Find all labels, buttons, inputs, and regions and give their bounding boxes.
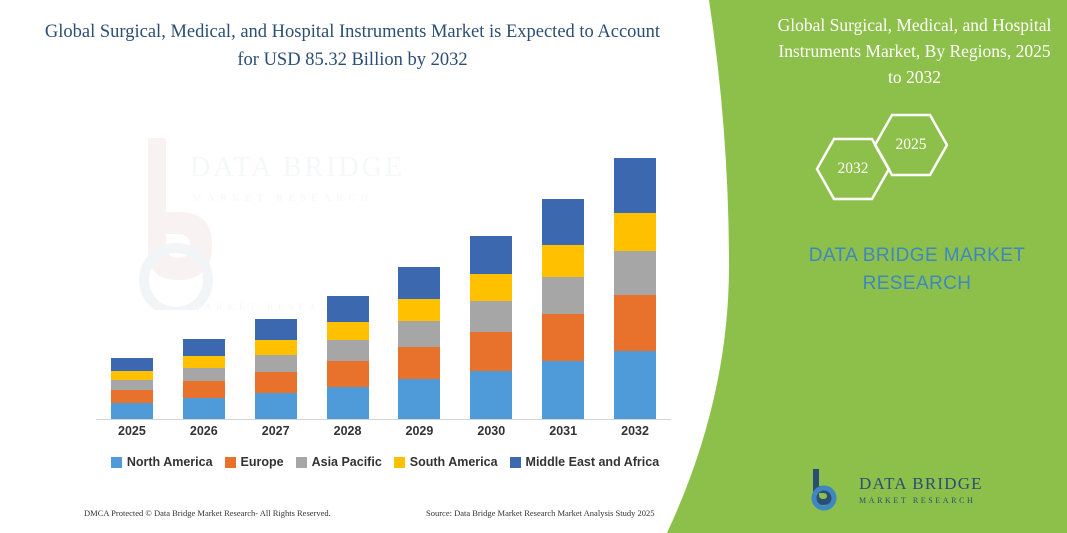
bar-group xyxy=(398,267,440,419)
data-bridge-logo-icon xyxy=(807,467,847,511)
bar-segment xyxy=(255,355,297,372)
bar-group xyxy=(470,236,512,419)
bar-segment xyxy=(255,340,297,355)
legend-label: South America xyxy=(410,455,498,469)
logo-sub-text: MARKET RESEARCH xyxy=(859,496,983,505)
bar-segment xyxy=(614,251,656,295)
bar-segment xyxy=(542,361,584,419)
footer: DMCA Protected © Data Bridge Market Rese… xyxy=(84,508,684,524)
chart-legend: North AmericaEuropeAsia PacificSouth Ame… xyxy=(96,455,674,469)
plot-area xyxy=(96,100,671,420)
bar-segment xyxy=(111,358,153,371)
logo-main-text: DATA BRIDGE xyxy=(859,474,983,494)
bar-segment xyxy=(327,387,369,419)
brand-line-1: DATA BRIDGE MARKET xyxy=(809,245,1026,266)
legend-label: Asia Pacific xyxy=(312,455,382,469)
bar-segment xyxy=(255,319,297,340)
footer-copyright: DMCA Protected © Data Bridge Market Rese… xyxy=(84,508,331,518)
legend-label: North America xyxy=(127,455,213,469)
panel-content: Global Surgical, Medical, and Hospital I… xyxy=(667,0,1067,533)
bar-segment xyxy=(542,277,584,314)
x-axis-label: 2030 xyxy=(456,424,526,438)
bar-segment xyxy=(614,213,656,251)
panel-title: Global Surgical, Medical, and Hospital I… xyxy=(772,12,1057,90)
bar-segment xyxy=(183,356,225,368)
bar-segment xyxy=(327,322,369,340)
x-axis-label: 2029 xyxy=(384,424,454,438)
infographic-page: Global Surgical, Medical, and Hospital I… xyxy=(0,0,1067,533)
legend-label: Middle East and Africa xyxy=(526,455,660,469)
brand-text: DATA BRIDGE MARKET RESEARCH xyxy=(777,242,1057,298)
chart-area: Global Surgical, Medical, and Hospital I… xyxy=(0,0,700,533)
bar-segment xyxy=(614,158,656,213)
bar-segment xyxy=(398,347,440,379)
bar-segment xyxy=(183,398,225,419)
bar-segment xyxy=(470,274,512,301)
bar-segment xyxy=(327,296,369,322)
x-axis-label: 2032 xyxy=(600,424,670,438)
bar-segment xyxy=(614,295,656,351)
bar-segment xyxy=(542,199,584,245)
hexagon-2025: 2025 xyxy=(873,112,949,178)
legend-swatch xyxy=(296,457,307,468)
bar-group xyxy=(542,199,584,419)
bar-group xyxy=(614,158,656,419)
bar-segment xyxy=(183,368,225,381)
x-axis-labels: 20252026202720282029203020312032 xyxy=(96,424,671,446)
legend-item[interactable]: North America xyxy=(111,455,213,469)
bar-segment xyxy=(470,371,512,419)
bar-segment xyxy=(470,332,512,371)
bar-segment xyxy=(111,371,153,380)
legend-item[interactable]: Asia Pacific xyxy=(296,455,382,469)
bar-segment xyxy=(111,380,153,390)
x-axis-label: 2026 xyxy=(169,424,239,438)
chart-title: Global Surgical, Medical, and Hospital I… xyxy=(40,18,665,74)
legend-item[interactable]: South America xyxy=(394,455,498,469)
x-axis-label: 2028 xyxy=(313,424,383,438)
x-axis-label: 2025 xyxy=(97,424,167,438)
bar-segment xyxy=(398,321,440,347)
legend-swatch xyxy=(394,457,405,468)
bar-group xyxy=(255,319,297,419)
bar-segment xyxy=(111,403,153,419)
bar-segment xyxy=(470,236,512,274)
bar-segment xyxy=(542,245,584,277)
bar-group xyxy=(111,358,153,419)
legend-label: Europe xyxy=(241,455,284,469)
legend-swatch xyxy=(111,457,122,468)
bar-segment xyxy=(398,267,440,299)
x-axis-label: 2031 xyxy=(528,424,598,438)
bar-segment xyxy=(111,390,153,403)
hexagon-2025-label: 2025 xyxy=(873,112,949,178)
x-axis-line xyxy=(96,419,671,420)
bar-segment xyxy=(255,393,297,419)
panel-logo: DATA BRIDGE MARKET RESEARCH xyxy=(807,467,983,511)
brand-line-2: RESEARCH xyxy=(863,273,972,294)
bar-segment xyxy=(398,379,440,419)
footer-source: Source: Data Bridge Market Research Mark… xyxy=(426,508,655,518)
bar-segment xyxy=(470,301,512,332)
bar-segment xyxy=(183,339,225,356)
x-axis-label: 2027 xyxy=(241,424,311,438)
hexagon-group: 2032 2025 xyxy=(815,112,1015,202)
legend-swatch xyxy=(225,457,236,468)
bar-segment xyxy=(327,340,369,361)
bar-segment xyxy=(398,299,440,321)
bar-segment xyxy=(327,361,369,387)
bar-segment xyxy=(183,381,225,398)
legend-item[interactable]: Middle East and Africa xyxy=(510,455,660,469)
bar-segment xyxy=(542,314,584,361)
legend-swatch xyxy=(510,457,521,468)
bar-group xyxy=(327,296,369,419)
bar-segment xyxy=(255,372,297,393)
logo-words: DATA BRIDGE MARKET RESEARCH xyxy=(859,474,983,505)
bar-segment xyxy=(614,351,656,419)
bar-group xyxy=(183,339,225,419)
legend-item[interactable]: Europe xyxy=(225,455,284,469)
